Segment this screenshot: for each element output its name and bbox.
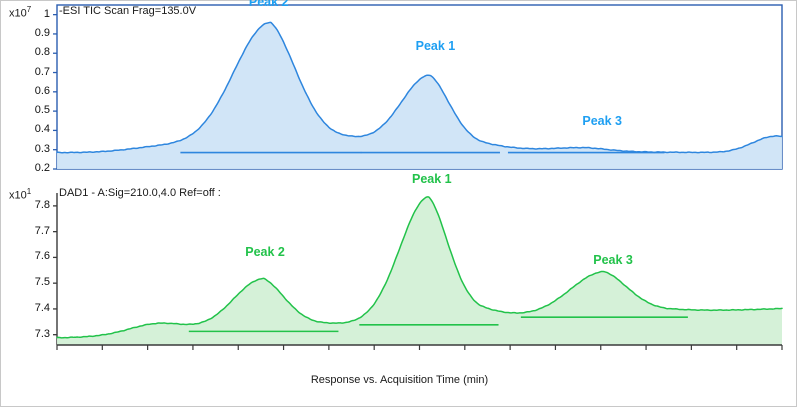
ms-y-tick-0-7: 0.7 bbox=[1, 66, 50, 78]
dad-y-tick-7-4: 7.4 bbox=[1, 302, 50, 314]
ms-y-tick-0-6: 0.6 bbox=[1, 85, 50, 97]
ms-peak-label-1: Peak 2 bbox=[249, 0, 289, 9]
dad-y-tick-7-8: 7.8 bbox=[1, 199, 50, 211]
dad-plot-area bbox=[1, 183, 797, 368]
ms-peak-label-3: Peak 3 bbox=[582, 114, 622, 128]
dad-peak-label-2: Peak 1 bbox=[412, 172, 452, 186]
ms-y-tick-0-5: 0.5 bbox=[1, 104, 50, 116]
dad-peak-label-1: Peak 2 bbox=[245, 245, 285, 259]
chromatogram-window: x107 -ESI TIC Scan Frag=135.0V 10.90.80.… bbox=[0, 0, 797, 407]
ms-y-tick-0-4: 0.4 bbox=[1, 123, 50, 135]
dad-chromatogram-panel: x101 DAD1 - A:Sig=210.0,4.0 Ref=off : 7.… bbox=[1, 183, 797, 368]
ms-plot-title: -ESI TIC Scan Frag=135.0V bbox=[59, 5, 196, 17]
dad-plot-title: DAD1 - A:Sig=210.0,4.0 Ref=off : bbox=[59, 187, 221, 199]
ms-chromatogram-panel: x107 -ESI TIC Scan Frag=135.0V 10.90.80.… bbox=[1, 1, 797, 181]
ms-y-tick-1: 1 bbox=[1, 8, 50, 20]
ms-plot-area bbox=[1, 1, 797, 181]
dad-y-tick-7-3: 7.3 bbox=[1, 328, 50, 340]
dad-peak-label-3: Peak 3 bbox=[593, 253, 633, 267]
ms-y-tick-0-2: 0.2 bbox=[1, 162, 50, 174]
dad-y-tick-7-7: 7.7 bbox=[1, 225, 50, 237]
dad-y-tick-7-6: 7.6 bbox=[1, 250, 50, 262]
dad-y-tick-7-5: 7.5 bbox=[1, 276, 50, 288]
ms-y-tick-0-9: 0.9 bbox=[1, 27, 50, 39]
dad-exponent-value: 1 bbox=[27, 187, 31, 196]
ms-y-tick-0-8: 0.8 bbox=[1, 46, 50, 58]
ms-y-tick-0-3: 0.3 bbox=[1, 143, 50, 155]
x-axis-caption: Response vs. Acquisition Time (min) bbox=[1, 374, 797, 386]
ms-peak-label-2: Peak 1 bbox=[416, 39, 456, 53]
